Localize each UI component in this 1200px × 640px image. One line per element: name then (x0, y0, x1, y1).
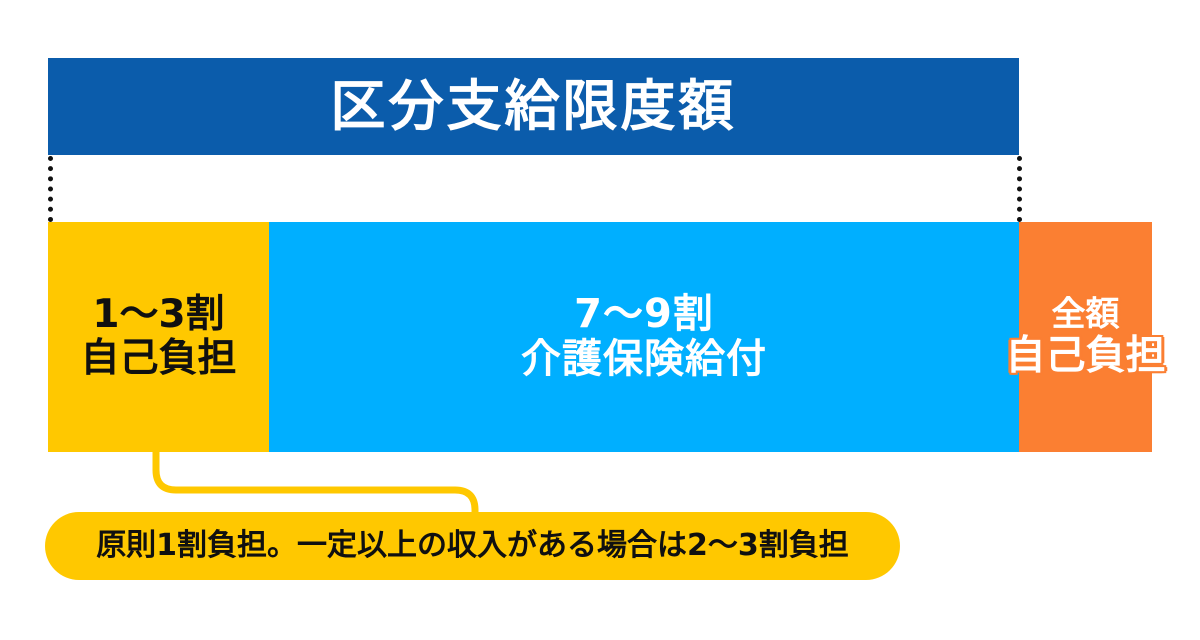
banner-limit-amount: 区分支給限度額 (48, 58, 1019, 155)
bar-segment-full-self-pay-share: 全額 (956, 296, 1200, 334)
note-pill-text: 原則1割負担。一定以上の収入がある場合は2〜3割負担 (96, 531, 849, 561)
bar-segment-insurance-benefit-label: 介護保険給付 (521, 337, 767, 382)
bar-segment-self-pay[interactable]: 1〜3割 自己負担 (48, 222, 269, 452)
bar-segment-full-self-pay-text: 全額 自己負担 (956, 296, 1200, 379)
note-pill-self-pay-rate[interactable]: 原則1割負担。一定以上の収入がある場合は2〜3割負担 (45, 512, 900, 580)
bracket-guide-left-dotted-line (48, 156, 53, 222)
bracket-guide-right-dotted-line (1017, 156, 1022, 222)
bar-segment-self-pay-label: 自己負担 (80, 337, 236, 381)
bar-segment-insurance-benefit-share: 7〜9割 (574, 292, 714, 337)
bar-segment-full-self-pay[interactable]: 全額 自己負担 (1019, 222, 1152, 452)
banner-title: 区分支給限度額 (330, 79, 736, 134)
bar-segment-insurance-benefit[interactable]: 7〜9割 介護保険給付 (269, 222, 1019, 452)
infographic-canvas: 区分支給限度額 1〜3割 自己負担 7〜9割 介護保険給付 全額 自己負担 原則… (0, 0, 1200, 640)
bar-segment-self-pay-share: 1〜3割 (92, 293, 224, 337)
bar-segment-full-self-pay-label: 自己負担 (956, 334, 1200, 379)
cost-share-bar: 1〜3割 自己負担 7〜9割 介護保険給付 全額 自己負担 (48, 222, 1152, 452)
